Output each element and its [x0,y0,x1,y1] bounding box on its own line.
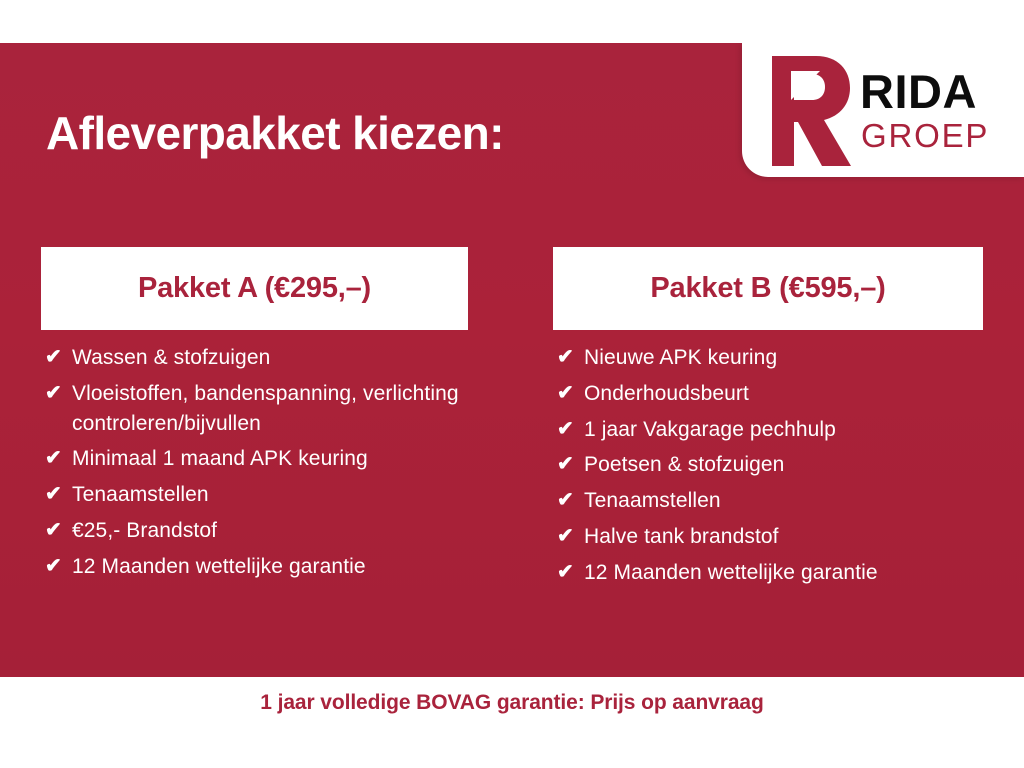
list-item: ✔ 1 jaar Vakgarage pechhulp [553,415,983,445]
list-item: ✔ Wassen & stofzuigen [41,343,468,373]
package-b-feature-list: ✔ Nieuwe APK keuring ✔ Onderhoudsbeurt ✔… [553,330,983,588]
check-icon: ✔ [553,450,584,478]
check-icon: ✔ [41,343,72,371]
list-item: ✔ Onderhoudsbeurt [553,379,983,409]
list-item-label: Minimaal 1 maand APK keuring [72,444,468,474]
packages-container: Pakket A (€295,–) ✔ Wassen & stofzuigen … [0,43,1024,677]
list-item: ✔ Tenaamstellen [41,480,468,510]
slide-root: Afleverpakket kiezen: RIDA GROEP [0,0,1024,768]
list-item-label: 12 Maanden wettelijke garantie [72,552,468,582]
check-icon: ✔ [41,379,72,407]
list-item: ✔ Minimaal 1 maand APK keuring [41,444,468,474]
footer-bar: 1 jaar volledige BOVAG garantie: Prijs o… [0,677,1024,768]
list-item: ✔ Vloeistoffen, bandenspanning, verlicht… [41,379,468,439]
list-item-label: Poetsen & stofzuigen [584,450,983,480]
list-item-label: Halve tank brandstof [584,522,983,552]
package-a-feature-list: ✔ Wassen & stofzuigen ✔ Vloeistoffen, ba… [41,330,468,582]
list-item-label: Tenaamstellen [72,480,468,510]
red-background-panel: Afleverpakket kiezen: RIDA GROEP [0,43,1024,677]
package-card-b[interactable]: Pakket B (€595,–) ✔ Nieuwe APK keuring ✔… [553,247,983,594]
list-item: ✔ Tenaamstellen [553,486,983,516]
check-icon: ✔ [553,343,584,371]
check-icon: ✔ [41,552,72,580]
list-item-label: Onderhoudsbeurt [584,379,983,409]
list-item-label: 12 Maanden wettelijke garantie [584,558,983,588]
list-item: ✔ Halve tank brandstof [553,522,983,552]
footer-note: 1 jaar volledige BOVAG garantie: Prijs o… [0,691,1024,715]
list-item-label: 1 jaar Vakgarage pechhulp [584,415,983,445]
list-item: ✔ Poetsen & stofzuigen [553,450,983,480]
list-item-label: Nieuwe APK keuring [584,343,983,373]
package-b-title: Pakket B (€595,–) [650,272,885,305]
package-a-header: Pakket A (€295,–) [41,247,468,330]
check-icon: ✔ [553,379,584,407]
list-item: ✔ Nieuwe APK keuring [553,343,983,373]
list-item: ✔ 12 Maanden wettelijke garantie [41,552,468,582]
list-item: ✔ €25,- Brandstof [41,516,468,546]
check-icon: ✔ [41,480,72,508]
list-item-label: Wassen & stofzuigen [72,343,468,373]
check-icon: ✔ [41,444,72,472]
check-icon: ✔ [553,415,584,443]
package-card-a[interactable]: Pakket A (€295,–) ✔ Wassen & stofzuigen … [41,247,468,588]
check-icon: ✔ [41,516,72,544]
package-b-header: Pakket B (€595,–) [553,247,983,330]
list-item: ✔ 12 Maanden wettelijke garantie [553,558,983,588]
list-item-label: €25,- Brandstof [72,516,468,546]
package-a-title: Pakket A (€295,–) [138,272,371,305]
check-icon: ✔ [553,522,584,550]
check-icon: ✔ [553,558,584,586]
list-item-label: Tenaamstellen [584,486,983,516]
check-icon: ✔ [553,486,584,514]
list-item-label: Vloeistoffen, bandenspanning, verlichtin… [72,379,468,439]
